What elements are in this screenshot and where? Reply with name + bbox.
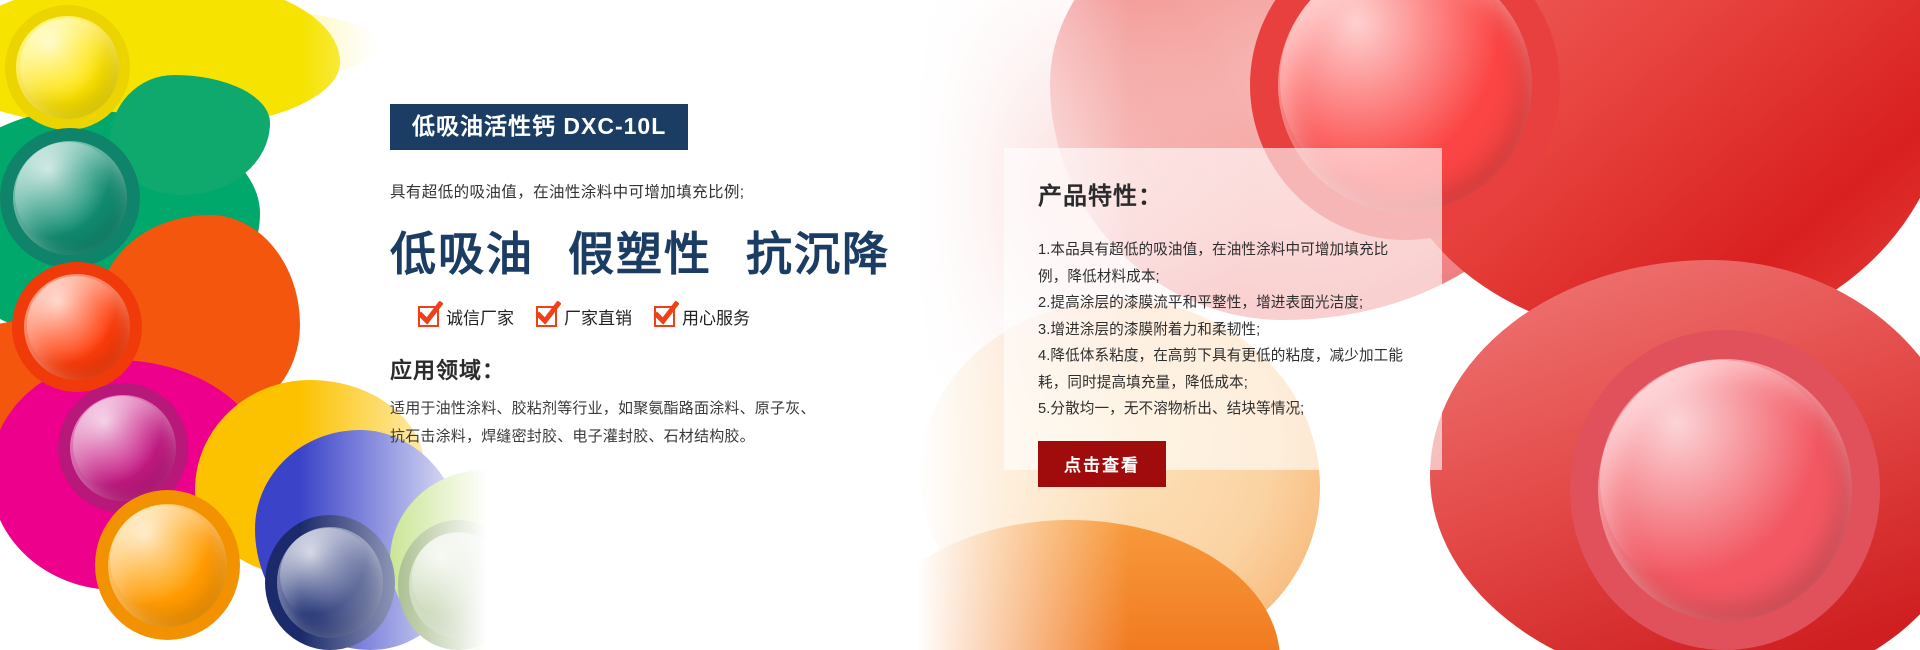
feature-item-5: 5.分散均一，无不溶物析出、结块等情况; xyxy=(1038,396,1408,423)
checkbox-check-icon xyxy=(418,306,439,327)
features-panel: 产品特性： 1.本品具有超低的吸油值，在油性涂料中可增加填充比例，降低材料成本;… xyxy=(1004,148,1442,470)
trust-badge-1: 诚信厂家 xyxy=(418,304,514,329)
paint-can-rose-bottom-gloss xyxy=(1600,360,1840,600)
trust-badge-2-label: 厂家直销 xyxy=(564,304,632,329)
paint-can-orange xyxy=(95,490,240,640)
application-heading: 应用领域： xyxy=(390,353,910,385)
application-body: 适用于油性涂料、胶粘剂等行业，如聚氨酯路面涂料、原子灰、抗石击涂料，焊缝密封胶、… xyxy=(390,395,820,451)
orange-paint-pool-bottom xyxy=(870,520,1280,650)
product-headline: 低吸油 假塑性 抗沉降 xyxy=(390,218,910,284)
paint-can-rose-bottom xyxy=(1570,330,1880,650)
paint-can-magenta xyxy=(58,383,188,513)
paint-can-yellow xyxy=(5,5,130,130)
paint-can-red-gloss xyxy=(27,276,125,374)
paint-can-yellow-gloss xyxy=(20,18,115,113)
feature-item-4: 4.降低体系粘度，在高剪下具有更低的粘度，减少加工能耗，同时提高填充量，降低成本… xyxy=(1038,343,1408,396)
red-paint-spill-right-lower xyxy=(1430,260,1920,650)
trust-badge-3: 用心服务 xyxy=(654,304,750,329)
red-paint-spill-right xyxy=(1390,0,1920,340)
checkbox-check-icon xyxy=(536,306,557,327)
green-paint-smear-tail xyxy=(110,75,270,195)
blue-paint-smear xyxy=(255,430,465,650)
trust-badge-row: 诚信厂家 厂家直销 用心服务 xyxy=(418,304,910,329)
features-panel-inner: 产品特性： 1.本品具有超低的吸油值，在油性涂料中可增加填充比例，降低材料成本;… xyxy=(1004,148,1442,487)
checkbox-check-icon xyxy=(654,306,675,327)
orange-paint-smear xyxy=(100,215,300,415)
green-paint-smear xyxy=(0,110,260,340)
yellow-paint-smear xyxy=(0,0,340,130)
trust-badge-1-label: 诚信厂家 xyxy=(446,304,514,329)
features-list: 1.本品具有超低的吸油值，在油性涂料中可增加填充比例，降低材料成本; 2.提高涂… xyxy=(1038,237,1408,423)
feature-item-1: 1.本品具有超低的吸油值，在油性涂料中可增加填充比例，降低材料成本; xyxy=(1038,237,1408,290)
feature-item-2: 2.提高涂层的漆膜流平和平整性，增进表面光洁度; xyxy=(1038,290,1408,317)
orange-paint-smear-left xyxy=(0,320,160,500)
paint-can-olive-gloss xyxy=(412,533,502,623)
magenta-paint-smear xyxy=(0,360,270,590)
view-details-button[interactable]: 点击查看 xyxy=(1038,441,1166,487)
headline-word-3: 抗沉降 xyxy=(746,218,890,284)
paint-can-navy xyxy=(265,515,395,650)
trust-badge-3-label: 用心服务 xyxy=(682,304,750,329)
paint-can-red xyxy=(12,262,142,392)
paint-can-olive xyxy=(398,520,518,650)
paint-can-orange-gloss xyxy=(110,505,220,615)
paint-can-navy-gloss xyxy=(280,528,375,623)
paint-can-magenta-gloss xyxy=(73,396,171,494)
headline-word-1: 低吸油 xyxy=(390,218,534,284)
headline-word-2: 假塑性 xyxy=(568,218,712,284)
promo-banner: 低吸油活性钙 DXC-10L 具有超低的吸油值，在油性涂料中可增加填充比例; 低… xyxy=(0,0,1920,650)
product-subline: 具有超低的吸油值，在油性涂料中可增加填充比例; xyxy=(390,180,910,202)
paint-can-green-gloss xyxy=(15,142,120,247)
paint-can-green xyxy=(0,128,140,268)
light-green-paint-smear xyxy=(390,470,560,650)
feature-item-3: 3.增进涂层的漆膜附着力和柔韧性; xyxy=(1038,317,1408,344)
trust-badge-2: 厂家直销 xyxy=(536,304,632,329)
product-title-tag: 低吸油活性钙 DXC-10L xyxy=(390,104,688,150)
features-heading: 产品特性： xyxy=(1038,176,1408,211)
product-intro-column: 低吸油活性钙 DXC-10L 具有超低的吸油值，在油性涂料中可增加填充比例; 低… xyxy=(390,104,910,451)
yellow-paint-smear-tail xyxy=(120,10,380,80)
